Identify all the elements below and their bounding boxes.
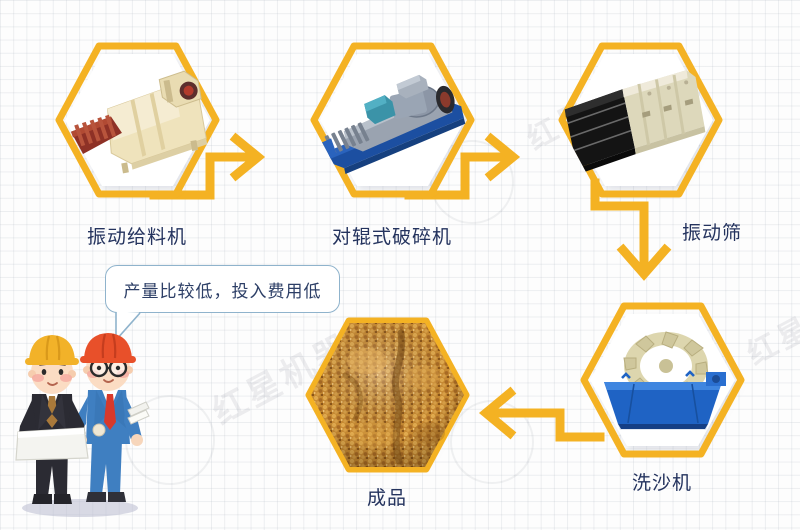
node-sand-washer[interactable]: [580, 300, 745, 460]
node-label-double-roller-crusher: 对辊式破碎机: [317, 222, 467, 249]
engineer-left: [16, 335, 88, 504]
callout-bubble: 产量比较低，投入费用低: [105, 265, 340, 313]
process-flow-diagram: 红星机器 红星机器 红星机器: [0, 0, 800, 530]
callout-text: 产量比较低，投入费用低: [124, 277, 322, 302]
node-label-vibrating-feeder: 振动给料机: [62, 222, 212, 249]
node-label-vibrating-screen: 振动筛: [672, 218, 752, 245]
node-finished-product[interactable]: [305, 315, 470, 475]
node-vibrating-feeder[interactable]: [55, 40, 220, 200]
node-label-sand-washer: 洗沙机: [612, 468, 712, 495]
watermark-text: 红星机器: [738, 271, 800, 374]
node-label-finished-product: 成品: [347, 483, 427, 510]
node-vibrating-screen[interactable]: [558, 40, 723, 200]
node-double-roller-crusher[interactable]: [310, 40, 475, 200]
two-engineers-illustration: [10, 318, 150, 518]
